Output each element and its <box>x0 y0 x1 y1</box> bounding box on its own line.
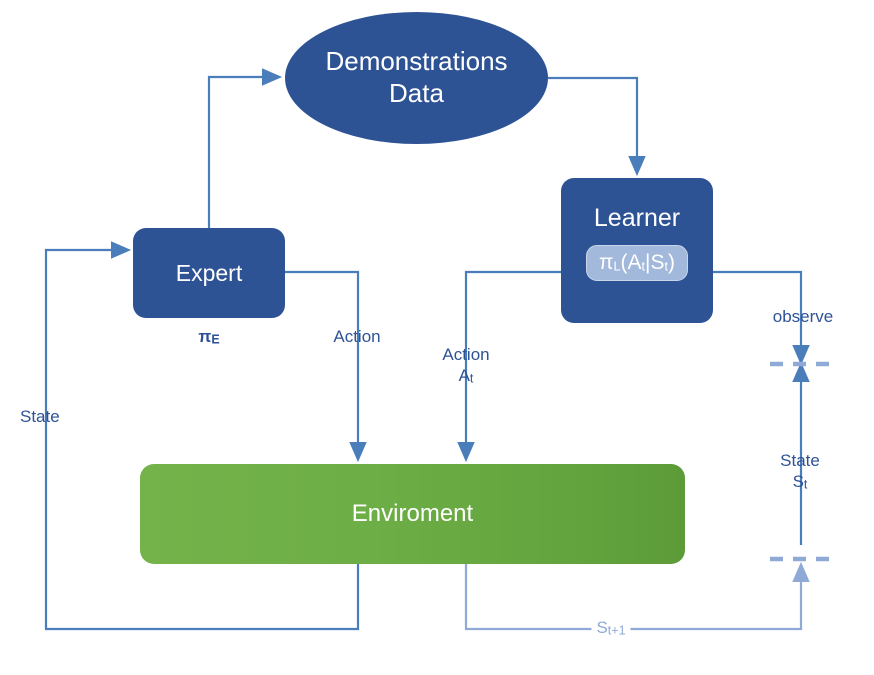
diagram-canvas: Demonstrations Data Expert Learner πL(At… <box>0 0 874 675</box>
node-environment[interactable]: Enviroment <box>140 464 685 564</box>
learner-policy-given: |S <box>645 251 664 274</box>
node-learner[interactable]: Learner πL(At|St) <box>561 178 713 323</box>
learner-label: Learner <box>594 204 680 233</box>
learner-action-text: Action <box>442 345 489 366</box>
learner-policy-subscript: L <box>614 260 621 274</box>
learner-action-symbol: At <box>442 366 489 387</box>
state-st-text: State <box>780 451 820 472</box>
state-st-label: State St <box>780 451 820 492</box>
edge-environment-next-state <box>466 564 801 629</box>
demonstrations-line1: Demonstrations <box>325 46 507 78</box>
node-demonstrations-data[interactable]: Demonstrations Data <box>285 12 548 144</box>
edge-demonstrations-to-learner <box>548 78 637 166</box>
observe-label: observe <box>773 307 833 327</box>
state-left-label: State <box>20 407 60 427</box>
edge-expert-to-demonstrations <box>209 77 272 228</box>
expert-action-label: Action <box>333 327 380 347</box>
expert-policy-pi: π <box>198 327 211 346</box>
demonstrations-line2: Data <box>389 78 444 110</box>
expert-policy-subscript: E <box>211 333 219 347</box>
learner-policy-pi: π <box>599 251 614 274</box>
learner-policy-open: (A <box>621 251 642 274</box>
expert-policy-label: πE <box>198 327 219 347</box>
learner-policy-badge[interactable]: πL(At|St) <box>586 245 688 281</box>
learner-policy-close: ) <box>668 251 675 274</box>
expert-label: Expert <box>176 260 242 287</box>
next-state-label: St+1 <box>591 618 630 638</box>
node-expert[interactable]: Expert <box>133 228 285 318</box>
learner-action-label: Action At <box>442 345 489 386</box>
edge-expert-action-to-environment <box>285 272 358 452</box>
state-st-symbol: St <box>780 472 820 493</box>
environment-label: Enviroment <box>352 500 473 528</box>
